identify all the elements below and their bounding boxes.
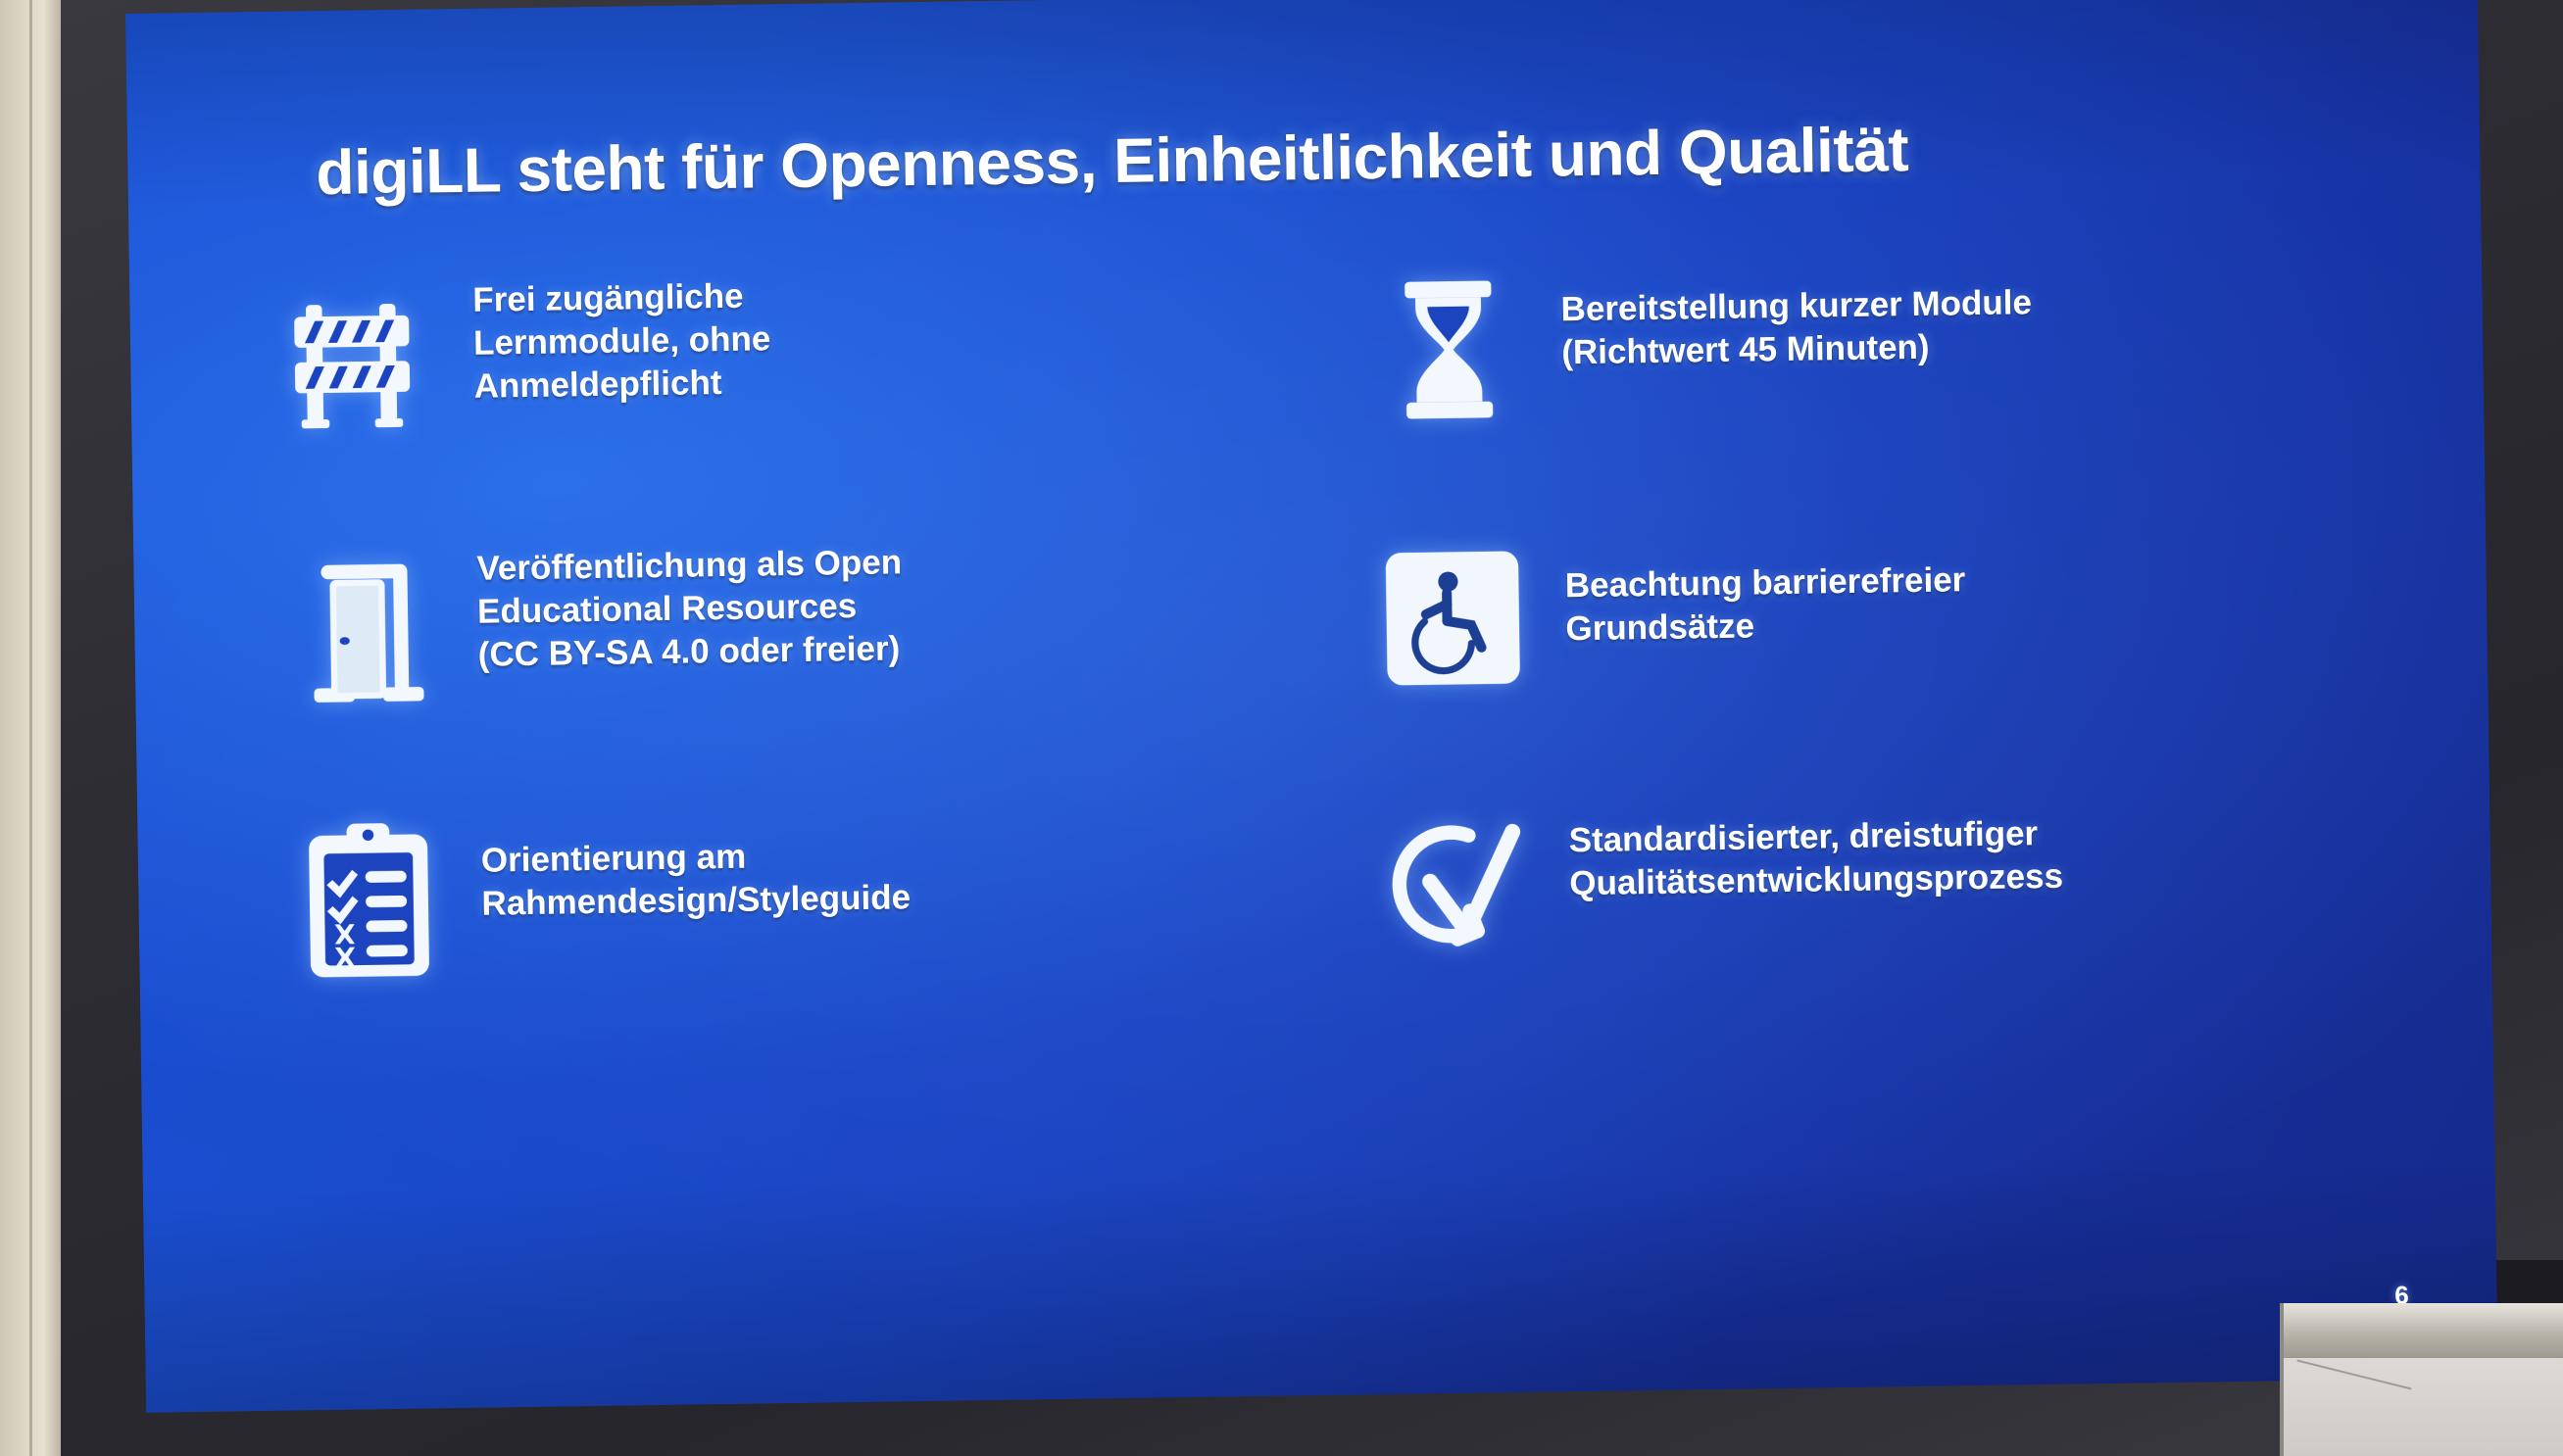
- clipboard-checklist-icon: [255, 804, 483, 994]
- feature-item-qualitaetsentwicklungsprozess: Standardisierter, dreistufiger Qualitäts…: [1343, 776, 2376, 1058]
- feature-item-orientierung-am-rahmendesign: Orientierung am Rahmendesign/Styleguide: [255, 793, 1288, 1075]
- feature-grid: Frei zugängliche Lernmodule, ohne Anmeld…: [247, 243, 2376, 1074]
- flipchart-rail: [2284, 1303, 2563, 1358]
- wheelchair-accessibility-icon: [1339, 523, 1567, 712]
- hourglass-icon: [1335, 255, 1563, 444]
- feature-text: Frei zugängliche Lernmodule, ohne Anmeld…: [472, 260, 1278, 409]
- slide-content: digiLL steht für Openness, Einheitlichke…: [125, 0, 2498, 1413]
- photo-of-projected-slide: digiLL steht für Openness, Einheitlichke…: [0, 0, 2563, 1456]
- room-wall-strip: [0, 0, 61, 1456]
- flipchart-paper: [2284, 1358, 2563, 1456]
- feature-text: Beachtung barrierefreier Grundsätze: [1564, 511, 2370, 651]
- feature-text: Veröffentlichung als Open Educational Re…: [476, 528, 1282, 677]
- feature-item-beachtung-barrierefreier-grundsaetze: Beachtung barrierefreier Grundsätze: [1339, 510, 2372, 792]
- presentation-slide: digiLL steht für Openness, Einheitlichke…: [125, 0, 2498, 1413]
- feature-text: Standardisierter, dreistufiger Qualitäts…: [1568, 776, 2374, 905]
- feature-text: Orientierung am Rahmendesign/Styleguide: [480, 793, 1286, 926]
- feature-text: Bereitstellung kurzer Module (Richtwert …: [1560, 243, 2366, 374]
- road-barrier-icon: [247, 271, 475, 461]
- feature-item-bereitstellung-kurzer-module: Bereitstellung kurzer Module (Richtwert …: [1335, 243, 2368, 525]
- slide-title: digiLL steht für Openness, Einheitlichke…: [316, 106, 2363, 209]
- flipchart-corner: [2280, 1303, 2563, 1456]
- feature-item-veroeffentlichung-als-oer: Veröffentlichung als Open Educational Re…: [251, 526, 1284, 808]
- feature-item-frei-zugaengliche-lernmodule: Frei zugängliche Lernmodule, ohne Anmeld…: [247, 260, 1280, 542]
- cycle-checkmark-icon: [1343, 788, 1571, 977]
- open-door-icon: [251, 540, 479, 729]
